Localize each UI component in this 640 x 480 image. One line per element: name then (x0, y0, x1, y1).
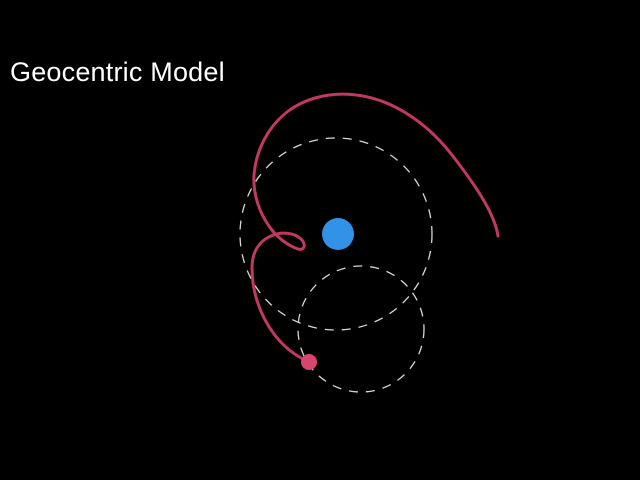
planet-body (301, 354, 317, 370)
epicycle-orbit-circle (298, 266, 424, 392)
page-title: Geocentric Model (10, 58, 225, 88)
geocentric-model-canvas: Geocentric Model (0, 0, 640, 480)
earth-body (322, 218, 354, 250)
